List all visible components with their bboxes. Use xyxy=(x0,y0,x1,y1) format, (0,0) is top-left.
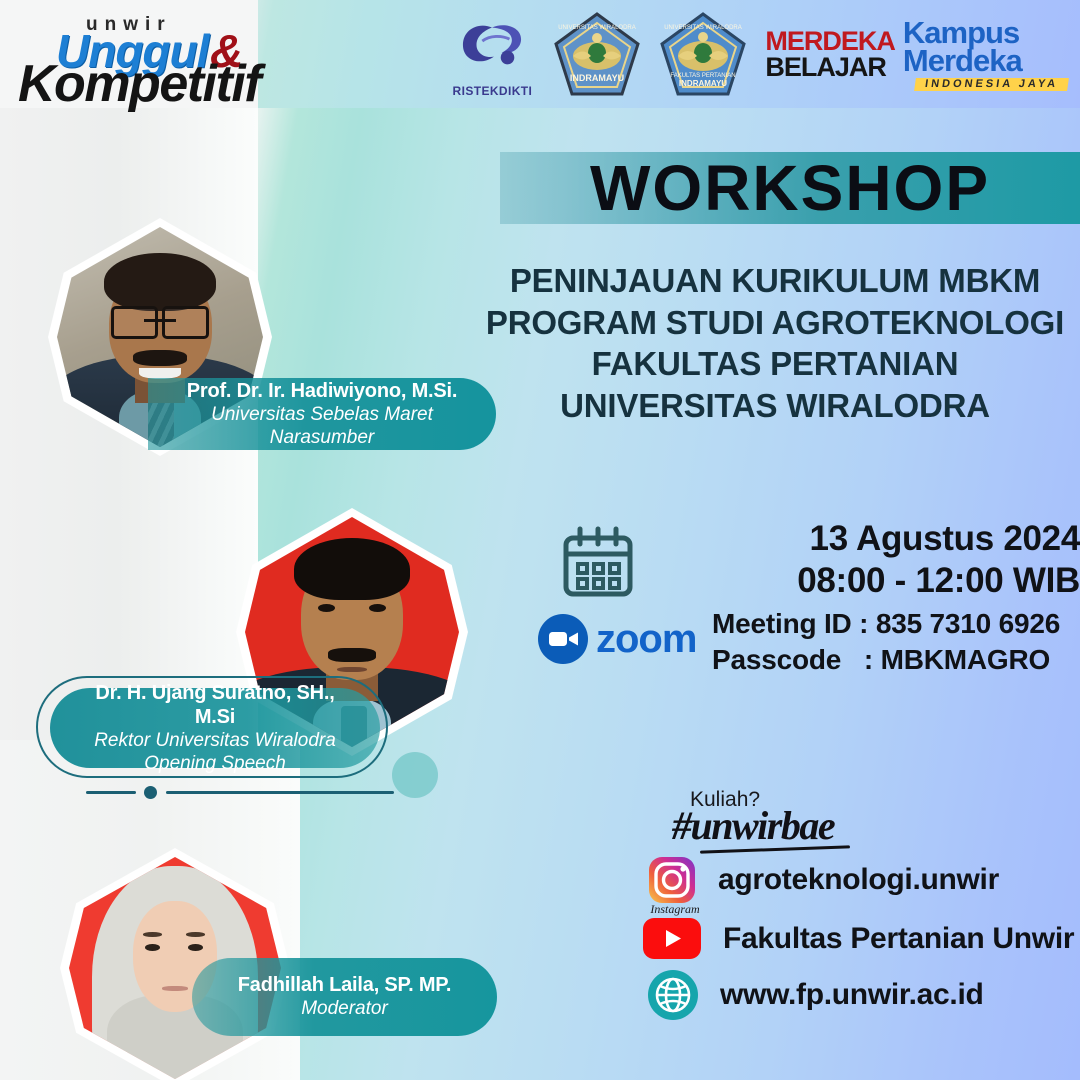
speaker-2-role: Opening Speech xyxy=(144,752,286,775)
globe-icon xyxy=(648,970,698,1020)
fakultas-pertanian-seal-2: FAKULTAS PERTANIAN INDRAMAYU UNIVERSITAS… xyxy=(659,11,747,99)
event-time: 08:00 - 12:00 WIB xyxy=(650,560,1080,602)
workshop-heading: WORKSHOP xyxy=(500,150,1080,226)
website-url: www.fp.unwir.ac.id xyxy=(720,978,984,1012)
unwirbae-hashtag-logo: Kuliah? #unwirbae xyxy=(672,788,912,852)
unwir-logo-kompetitif: Kompetitif xyxy=(18,54,260,114)
workshop-poster: unwir Unggul & Kompetitif RISTEKDIKTI xyxy=(0,0,1080,1080)
youtube-play-glyph xyxy=(643,918,701,959)
merdeka-belajar-kampus-merdeka-logo: MERDEKA BELAJAR Kampus Merdeka INDONESIA… xyxy=(765,12,1068,98)
speaker-3-role: Moderator xyxy=(301,997,388,1020)
youtube-handle: Fakultas Pertanian Unwir xyxy=(723,922,1074,956)
decorative-circle xyxy=(392,752,438,798)
partner-logo-row: RISTEKDIKTI INDRAMAYU UNIVERSITAS WIRALO… xyxy=(449,8,1068,102)
zoom-logo: zoom xyxy=(538,608,718,670)
svg-text:INDRAMAYU: INDRAMAYU xyxy=(679,79,727,88)
instagram-handle: agroteknologi.unwir xyxy=(718,863,999,897)
website-row[interactable]: www.fp.unwir.ac.id xyxy=(648,970,984,1020)
svg-text:UNIVERSITAS WIRALODRA: UNIVERSITAS WIRALODRA xyxy=(665,25,743,31)
belajar-text: BELAJAR xyxy=(765,55,895,81)
speaker-2-affiliation: Rektor Universitas Wiralodra xyxy=(94,729,336,752)
event-title-line-2: PROGRAM STUDI AGROTEKNOLOGI xyxy=(470,302,1080,344)
ristekdikti-logo: RISTEKDIKTI xyxy=(449,10,535,100)
speaker-2-nameplate: Dr. H. Ujang Suratno, SH., M.Si Rektor U… xyxy=(50,688,380,768)
instagram-caption: Instagram xyxy=(644,902,706,917)
nameplate-accent-line-right xyxy=(166,791,394,794)
ristekdikti-icon xyxy=(453,12,531,74)
event-date: 13 Agustus 2024 xyxy=(650,518,1080,560)
kampus-merdeka-wordmark: Kampus Merdeka INDONESIA JAYA xyxy=(903,19,1068,91)
event-title-line-3: FAKULTAS PERTANIAN xyxy=(470,343,1080,385)
unwir-logo: unwir Unggul & Kompetitif xyxy=(14,6,276,104)
zoom-wordmark: zoom xyxy=(596,619,696,659)
zoom-passcode: Passcode : MBKMAGRO xyxy=(712,642,1080,678)
video-camera-glyph xyxy=(538,614,588,664)
event-title-line-4: UNIVERSITAS WIRALODRA xyxy=(470,385,1080,427)
speaker-1-affiliation: Universitas Sebelas Maret xyxy=(211,403,433,426)
nameplate-accent-dot xyxy=(144,786,157,799)
youtube-row[interactable]: Fakultas Pertanian Unwir xyxy=(643,918,1074,959)
event-title: PENINJAUAN KURIKULUM MBKM PROGRAM STUDI … xyxy=(470,260,1080,426)
indonesia-jaya-tagline: INDONESIA JAYA xyxy=(914,78,1069,91)
event-datetime-block: 13 Agustus 2024 08:00 - 12:00 WIB xyxy=(650,518,1080,602)
speaker-1-name: Prof. Dr. Ir. Hadiwiyono, M.Si. xyxy=(187,379,458,403)
globe-glyph xyxy=(648,970,698,1020)
ristekdikti-caption: RISTEKDIKTI xyxy=(449,84,535,98)
nameplate-accent-line-left xyxy=(86,791,136,794)
speaker-3-name: Fadhillah Laila, SP. MP. xyxy=(238,973,451,997)
speaker-2-name: Dr. H. Ujang Suratno, SH., M.Si xyxy=(76,681,354,729)
calendar-icon xyxy=(560,526,636,602)
instagram-glyph xyxy=(648,856,696,904)
seal-icon: FAKULTAS PERTANIAN INDRAMAYU UNIVERSITAS… xyxy=(659,11,747,99)
speaker-3-nameplate: Fadhillah Laila, SP. MP. Moderator xyxy=(192,958,497,1036)
zoom-credentials: Meeting ID : 835 7310 6926 Passcode : MB… xyxy=(712,606,1080,678)
instagram-row[interactable]: Instagram agroteknologi.unwir xyxy=(648,856,999,904)
seal-icon: INDRAMAYU UNIVERSITAS WIRALODRA xyxy=(553,11,641,99)
universitas-wiralodra-seal-1: INDRAMAYU UNIVERSITAS WIRALODRA xyxy=(553,11,641,99)
hashtag-main-text: #unwirbae xyxy=(672,802,834,849)
zoom-camera-icon xyxy=(538,614,588,664)
merdeka-text-2: Merdeka xyxy=(903,47,1068,76)
svg-text:UNIVERSITAS WIRALODRA: UNIVERSITAS WIRALODRA xyxy=(559,25,637,31)
speaker-1-nameplate: Prof. Dr. Ir. Hadiwiyono, M.Si. Universi… xyxy=(148,378,496,450)
youtube-icon xyxy=(643,918,701,959)
instagram-icon: Instagram xyxy=(648,856,696,904)
zoom-meeting-id: Meeting ID : 835 7310 6926 xyxy=(712,606,1080,642)
merdeka-belajar-wordmark: MERDEKA BELAJAR xyxy=(765,29,895,80)
speaker-1-role: Narasumber xyxy=(270,426,375,449)
event-title-line-1: PENINJAUAN KURIKULUM MBKM xyxy=(470,260,1080,302)
svg-text:INDRAMAYU: INDRAMAYU xyxy=(570,73,624,83)
